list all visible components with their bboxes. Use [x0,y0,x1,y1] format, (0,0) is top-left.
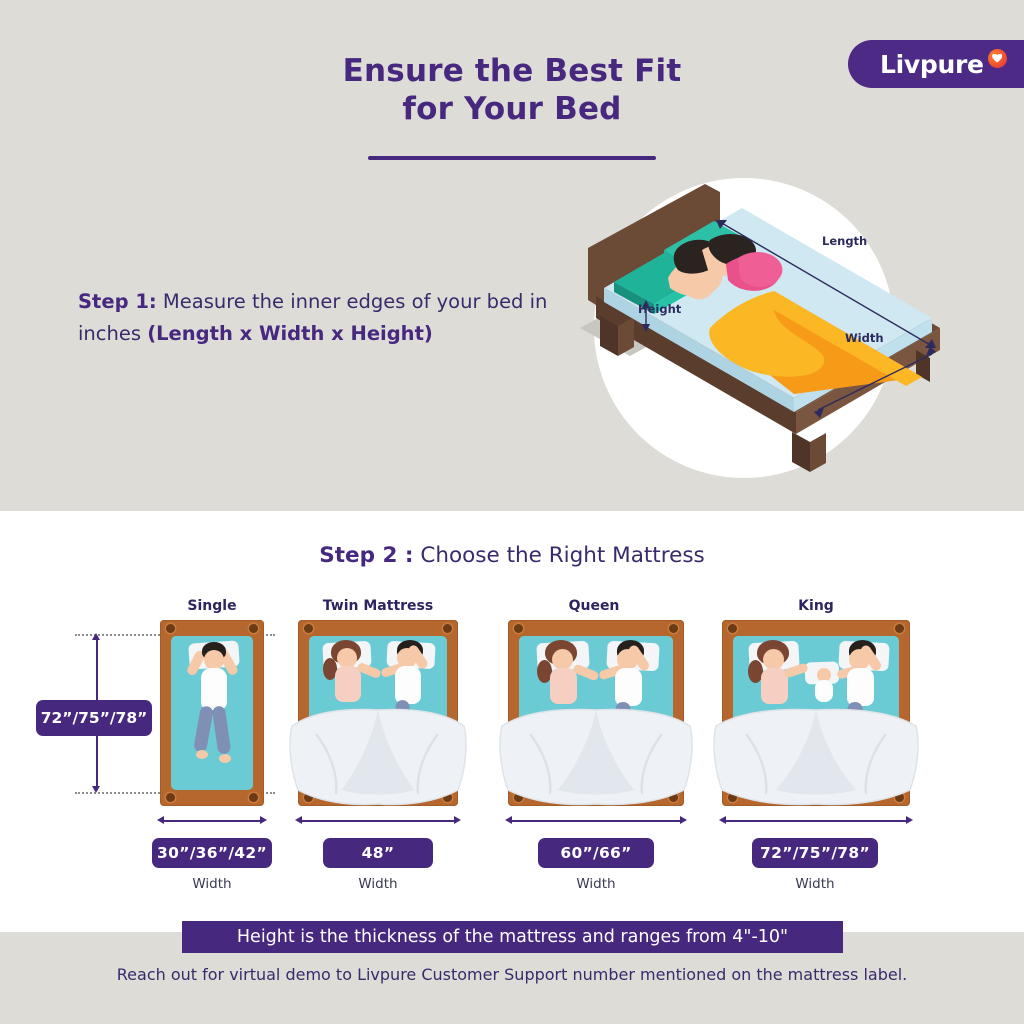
livpure-logo: Livpure [848,40,1024,88]
width-label-single: Width [152,876,272,892]
infographic-page: Ensure the Best Fit for Your Bed Livpure… [0,0,1024,1024]
width-arrow-left-icon [295,816,302,824]
woman-head [763,649,784,670]
frame-bolt-icon [166,793,175,802]
step1-instruction: Step 1: Measure the inner edges of your … [78,286,548,350]
height-info-banner: Height is the thickness of the mattress … [182,921,843,953]
blanket-twin [286,690,470,812]
footer-note: Reach out for virtual demo to Livpure Cu… [0,965,1024,984]
width-arrow-right-icon [454,816,461,824]
person-head [204,650,224,670]
bed-height-label: Height [638,302,681,316]
frame-bolt-icon [514,624,523,633]
logo-wordmark: Livpure [880,50,984,79]
frame-bolt-icon [166,624,175,633]
step2-label: Step 2 : [319,543,413,568]
column-header-single: Single [160,598,264,614]
width-badge-king: 72”/75”/78” [752,838,878,868]
frame-bolt-icon [895,624,904,633]
width-label-twin: Width [323,876,433,892]
width-label-king: Width [752,876,878,892]
bed-illustration: Length Height Width [560,178,980,478]
width-arrow-line-king [726,820,906,822]
frame-bolt-icon [728,624,737,633]
title-underline-divider [368,156,656,160]
width-arrow-left-icon [157,816,164,824]
person-foot-right [219,754,231,763]
isometric-bed-graphic [560,178,980,478]
width-arrow-line-twin [302,820,454,822]
step1-label: Step 1: [78,290,157,313]
frame-bolt-icon [304,624,313,633]
step2-heading: Step 2 : Choose the Right Mattress [0,543,1024,568]
bed-length-label: Length [822,234,867,248]
width-arrow-right-icon [260,816,267,824]
page-title-line1: Ensure the Best Fit [212,52,812,90]
column-header-twin: Twin Mattress [298,598,458,614]
blanket-queen [496,690,696,812]
bed-width-label: Width [845,331,884,345]
blanket-king [710,690,922,812]
frame-bolt-icon [443,624,452,633]
width-badge-twin: 48” [323,838,433,868]
width-arrow-left-icon [505,816,512,824]
height-badge: 72”/75”/78” [36,700,152,736]
woman-head [337,648,357,668]
mattress-surface [171,636,253,790]
column-header-king: King [722,598,910,614]
width-badge-single: 30”/36”/42” [152,838,272,868]
frame-bolt-icon [249,793,258,802]
width-arrow-line-queen [512,820,680,822]
frame-bolt-icon [669,624,678,633]
woman-head [552,649,573,670]
width-arrow-left-icon [719,816,726,824]
heart-drop-icon [988,49,1007,68]
frame-bolt-icon [249,624,258,633]
width-arrow-right-icon [906,816,913,824]
height-arrow-up-icon [92,633,100,640]
page-title-line2: for Your Bed [212,90,812,128]
height-arrow-down-icon [92,786,100,793]
width-arrow-right-icon [680,816,687,824]
width-badge-queen: 60”/66” [538,838,654,868]
step2-text: Choose the Right Mattress [414,543,705,568]
column-header-queen: Queen [508,598,680,614]
mattress-card-single[interactable] [160,620,264,806]
page-title: Ensure the Best Fit for Your Bed [212,52,812,128]
person-torso [201,668,227,710]
width-arrow-line-single [164,820,260,822]
width-label-queen: Width [538,876,654,892]
step1-dimensions: (Length x Width x Height) [147,322,433,345]
person-leg-left [193,705,214,753]
person-leg-right [212,705,232,754]
person-foot-left [196,750,208,759]
